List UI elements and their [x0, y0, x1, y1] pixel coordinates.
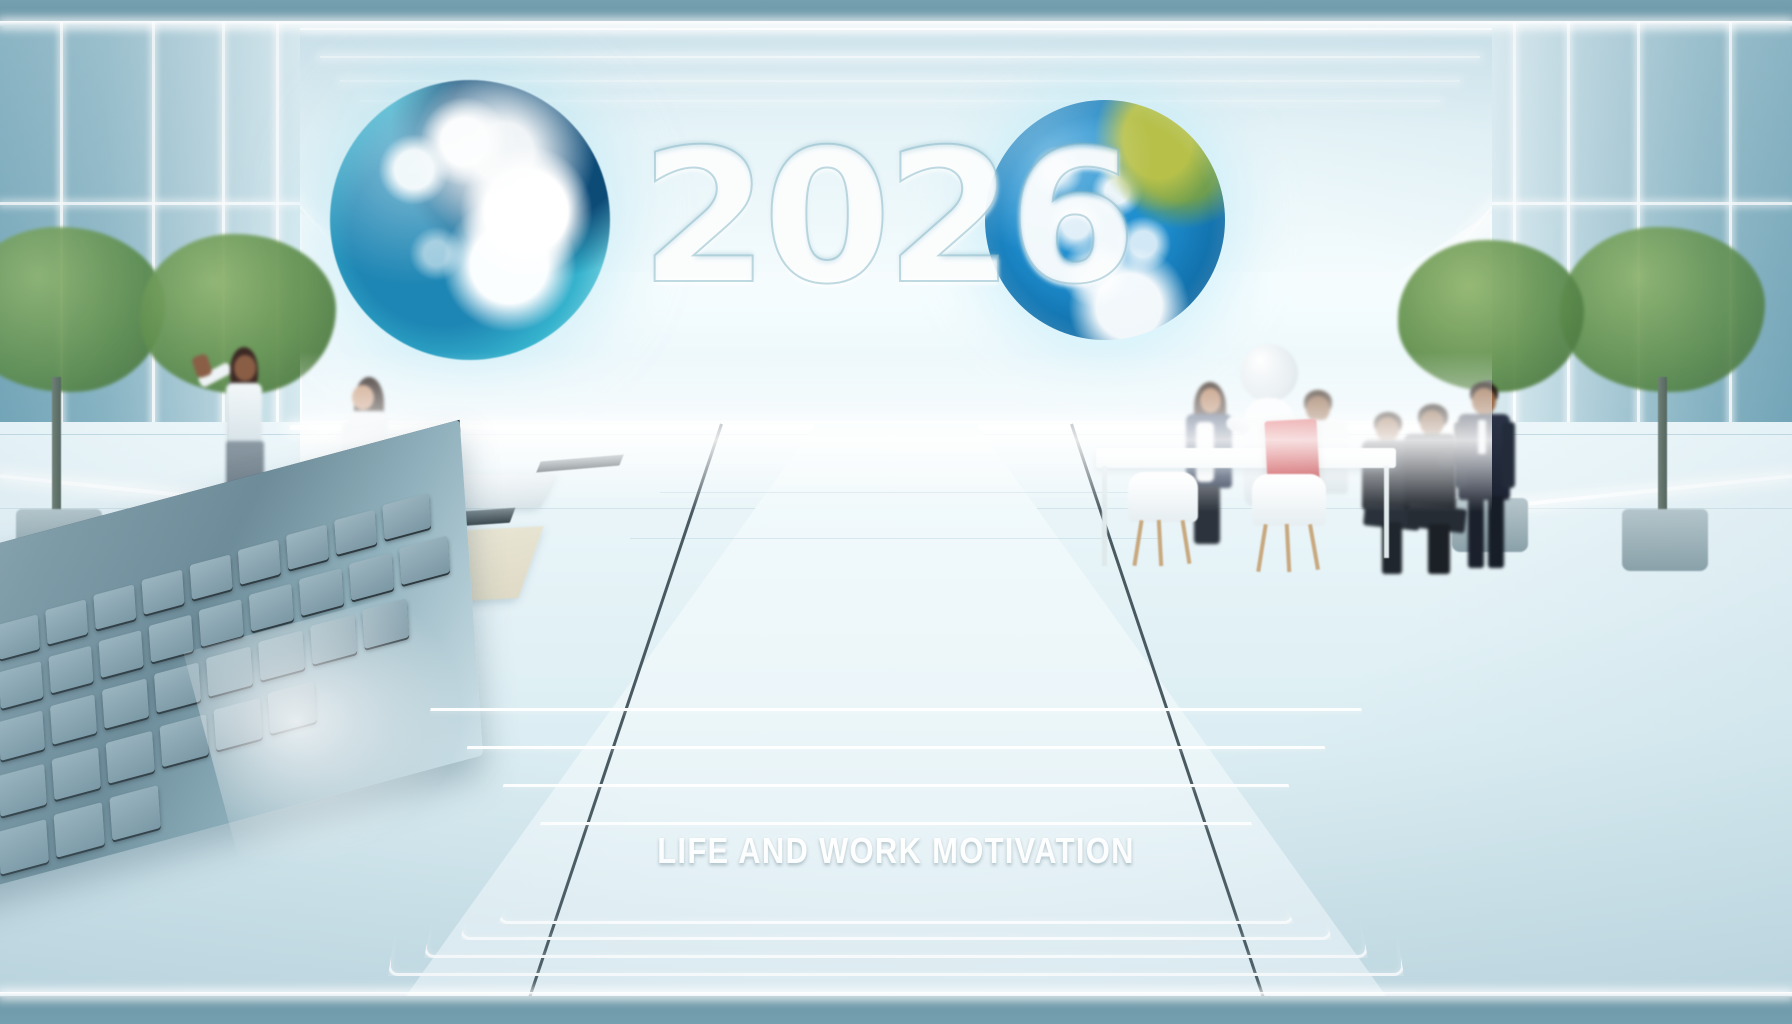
banner-title-text: LIFE AND WORK MOTIVATION [125, 830, 1666, 872]
bottom-banner: LIFE AND WORK MOTIVATION [0, 676, 1792, 996]
walkway-seam-2 [630, 538, 1160, 539]
chair-left [1128, 472, 1200, 568]
bottom-glow-line [0, 992, 1792, 997]
top-glow-line [0, 21, 1792, 26]
ceiling-light-1 [300, 28, 1500, 30]
top-letterbox-band [0, 0, 1792, 22]
scene-root: 2026 [0, 0, 1792, 1024]
right-wall-rail [1492, 202, 1792, 205]
table-leg-right [1384, 466, 1389, 558]
potted-tree-far-right [1560, 227, 1770, 572]
left-wall-rail [0, 202, 300, 205]
bottom-letterbox-band [0, 996, 1792, 1024]
meeting-table [1096, 448, 1396, 468]
blue-stylized-globe [330, 80, 610, 360]
person-man-dark-suit-standing [1452, 382, 1524, 572]
walkway-seam-1 [660, 492, 1130, 493]
table-leg-left [1102, 466, 1107, 566]
ceiling-light-3 [340, 80, 1460, 82]
chair-right [1252, 474, 1328, 574]
year-headline: 2026 [640, 117, 1060, 317]
ceiling-light-2 [320, 56, 1480, 58]
